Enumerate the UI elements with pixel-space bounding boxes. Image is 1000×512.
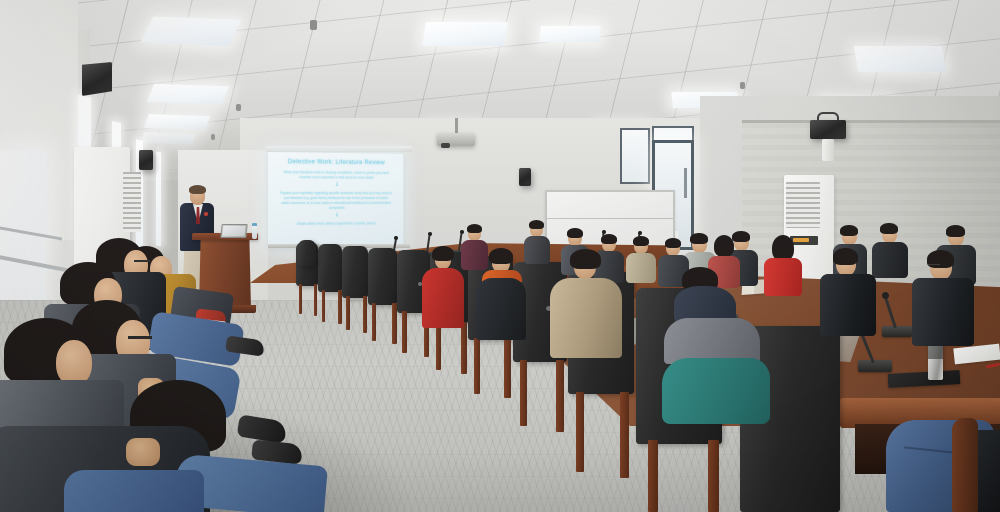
attendee-hair <box>489 248 513 264</box>
slide-paragraph-2: Expand your expertise regarding specific… <box>280 191 392 211</box>
attendee-hair <box>467 224 482 233</box>
microphone-head <box>460 230 464 234</box>
chair-leg <box>474 338 480 394</box>
sprinkler-head <box>211 134 215 140</box>
attendee-hair <box>946 225 965 237</box>
chair-leg <box>299 284 302 314</box>
wall-speaker-left <box>82 62 112 96</box>
attendee-red-jacket <box>764 258 802 296</box>
laptop <box>220 224 247 238</box>
microphone-base <box>858 360 892 372</box>
attendee-puffer-jacket <box>820 274 876 336</box>
attendee-hair <box>880 223 898 234</box>
chair-leg <box>338 290 342 324</box>
water-bottle <box>252 226 257 239</box>
water-bottle-cap <box>252 223 257 226</box>
conference-chair[interactable] <box>368 248 397 305</box>
attendee-hair <box>601 234 617 244</box>
door-handle[interactable] <box>684 168 687 198</box>
chair-leg <box>576 392 584 472</box>
microphone-base <box>882 326 912 337</box>
wall-speaker-mid <box>519 168 531 186</box>
chair-leg <box>372 303 376 341</box>
projector-mount-pole <box>455 118 458 133</box>
attendee-jacket <box>872 242 908 278</box>
eyeglasses <box>128 336 152 339</box>
microphone-head <box>882 292 889 299</box>
projector-lens <box>441 143 450 148</box>
projection-screen-housing <box>266 146 412 152</box>
attendee-hair <box>665 238 681 248</box>
chair-leg <box>461 322 467 374</box>
chair-leg <box>520 360 527 426</box>
speaker-conduit <box>822 139 834 161</box>
attendee-red-jacket <box>422 268 464 328</box>
air-conditioner-vent <box>123 172 141 232</box>
attendee-hair <box>840 225 858 236</box>
air-conditioner-display-light <box>793 238 809 242</box>
conference-chair[interactable] <box>298 240 316 266</box>
attendee-jacket-teal <box>662 358 770 424</box>
attendee-sweater <box>461 240 488 270</box>
whiteboard-frame-line <box>547 218 673 219</box>
attendee-hair <box>690 233 708 244</box>
chair-leg <box>648 440 658 512</box>
wall-speaker-left-small <box>139 150 153 170</box>
slide-title: Detective Work: Literature Review <box>288 158 385 166</box>
attendee-puffer-jacket <box>912 278 974 346</box>
attendee-hand <box>126 438 160 466</box>
ceiling-light-panel <box>147 84 229 105</box>
ceiling-light-panel <box>140 16 241 45</box>
microphone-head <box>394 236 398 240</box>
eyeglasses <box>928 264 940 267</box>
attendee-hair <box>567 228 583 238</box>
attendee-hair <box>732 231 750 242</box>
chair-leg <box>402 311 407 353</box>
chair-leg <box>708 440 719 512</box>
attendee-hair <box>833 248 858 265</box>
chair-leg <box>504 338 511 398</box>
conference-chair[interactable] <box>342 246 368 298</box>
chair-leg <box>392 303 397 344</box>
ceiling-light-panel <box>854 46 947 72</box>
attendee-hair <box>529 220 544 229</box>
presenter-lapel-pin <box>204 212 208 216</box>
sprinkler-head <box>740 82 745 89</box>
ceiling-light-panel <box>539 26 601 42</box>
attendee-jacket <box>524 236 550 264</box>
attendee-hair-long <box>714 235 734 257</box>
conference-chair[interactable] <box>318 244 342 292</box>
attendee-hair <box>633 236 649 246</box>
attendee-jacket <box>476 278 526 340</box>
microphone-head <box>638 231 642 235</box>
chair-leg <box>363 296 367 333</box>
attendee-jeans <box>64 470 204 512</box>
ceiling-light-panel <box>422 22 507 46</box>
slide-arrow-icon: ⇓ <box>335 213 340 219</box>
wall-speaker-right <box>810 120 846 139</box>
laptop-screen <box>222 226 245 236</box>
right-window <box>620 128 650 184</box>
attendee-hair <box>432 246 454 261</box>
chair-leg <box>346 296 350 330</box>
conference-room-photo: Detective Work: Literature Review When y… <box>0 0 1000 512</box>
slide-paragraph-1: When your literature work is nearing com… <box>280 170 392 181</box>
sprinkler-head <box>310 20 317 30</box>
chair-armrest <box>952 418 978 512</box>
sprinkler-head <box>236 104 241 111</box>
slide-arrow-icon: ⇓ <box>335 183 340 189</box>
eyeglasses <box>134 260 150 263</box>
presenter-hair <box>189 185 206 194</box>
attendee-coat <box>626 253 656 283</box>
projection-screen: Detective Work: Literature Review When y… <box>268 152 403 248</box>
vacuum-flask-label <box>928 346 943 359</box>
chair-leg <box>322 290 325 322</box>
slide-paragraph-3: Obtain advice from others (supervisors, … <box>297 221 377 226</box>
left-window-pane <box>156 152 161 247</box>
attendee-tan-coat <box>550 278 622 358</box>
air-conditioner-vent <box>786 182 820 228</box>
chair-leg <box>556 360 564 432</box>
microphone-head <box>428 232 432 236</box>
chair-leg <box>620 392 629 478</box>
chair-leg <box>314 284 317 316</box>
attendee-hair <box>570 249 601 269</box>
chair-leg <box>436 322 441 370</box>
